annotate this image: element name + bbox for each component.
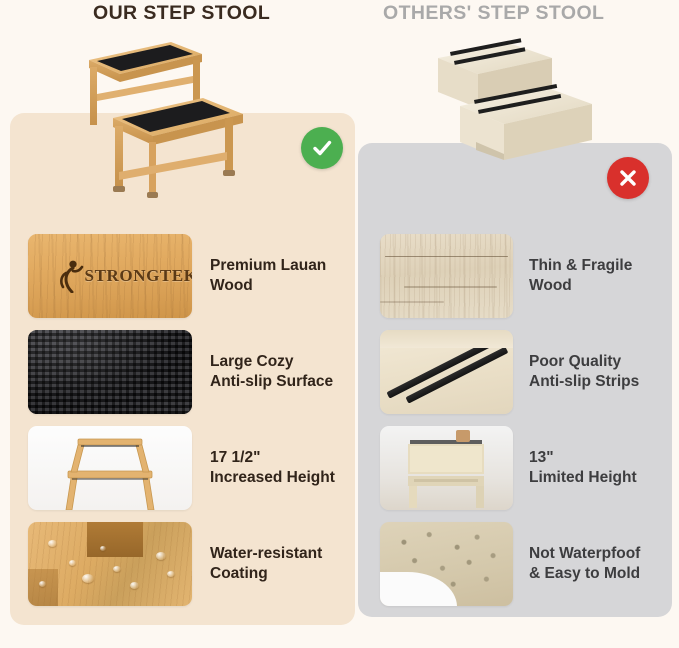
drawback-label: Thin & Fragile Wood xyxy=(529,256,632,297)
comparison-infographic: OUR STEP STOOL OTHERS' STEP STOOL xyxy=(0,0,679,648)
anti-slip-mat-texture-thumbnail xyxy=(28,330,192,414)
moldy-wood-thumbnail xyxy=(380,522,513,606)
branded-lauan-wood-thumbnail: STRONGTEK xyxy=(28,234,192,318)
feature-row-water-resistant-coating: Water-resistant Coating xyxy=(28,516,348,612)
feature-row-premium-lauan-wood: STRONGTEK Premium Lauan Wood xyxy=(28,228,348,324)
our-stool-hero-image xyxy=(75,32,280,202)
short-pale-stool-thumbnail xyxy=(380,426,513,510)
check-circle-icon xyxy=(301,127,343,169)
x-circle-icon xyxy=(607,157,649,199)
drawback-label: Poor Quality Anti-slip Strips xyxy=(529,352,639,393)
others-stool-hero-image xyxy=(420,34,610,184)
feature-row-anti-slip-surface: Large Cozy Anti-slip Surface xyxy=(28,324,348,420)
cracked-pale-wood-thumbnail xyxy=(380,234,513,318)
header-others-step-stool: OTHERS' STEP STOOL xyxy=(383,2,604,25)
feature-label: Water-resistant Coating xyxy=(210,544,322,585)
drawback-row-not-waterproof: Not Waterpfoof & Easy to Mold xyxy=(380,516,670,612)
drawback-row-thin-fragile-wood: Thin & Fragile Wood xyxy=(380,228,670,324)
drawback-label: 13" Limited Height xyxy=(529,448,637,489)
feature-label: Premium Lauan Wood xyxy=(210,256,326,297)
thin-black-strips-thumbnail xyxy=(380,330,513,414)
feature-row-increased-height: 17 1/2" Increased Height xyxy=(28,420,348,516)
strongtek-figure-icon xyxy=(58,259,84,293)
feature-label: Large Cozy Anti-slip Surface xyxy=(210,352,333,393)
brand-name: STRONGTEK xyxy=(85,266,192,286)
our-feature-list: STRONGTEK Premium Lauan Wood Large Cozy … xyxy=(28,228,348,612)
others-feature-list: Thin & Fragile Wood Poor Quality Anti-sl… xyxy=(380,228,670,612)
drawback-label: Not Waterpfoof & Easy to Mold xyxy=(529,544,640,585)
header-our-step-stool: OUR STEP STOOL xyxy=(93,2,270,25)
stool-side-view-thumbnail xyxy=(28,426,192,510)
drawback-row-limited-height: 13" Limited Height xyxy=(380,420,670,516)
feature-label: 17 1/2" Increased Height xyxy=(210,448,335,489)
drawback-row-anti-slip-strips: Poor Quality Anti-slip Strips xyxy=(380,324,670,420)
water-beading-wood-thumbnail xyxy=(28,522,192,606)
